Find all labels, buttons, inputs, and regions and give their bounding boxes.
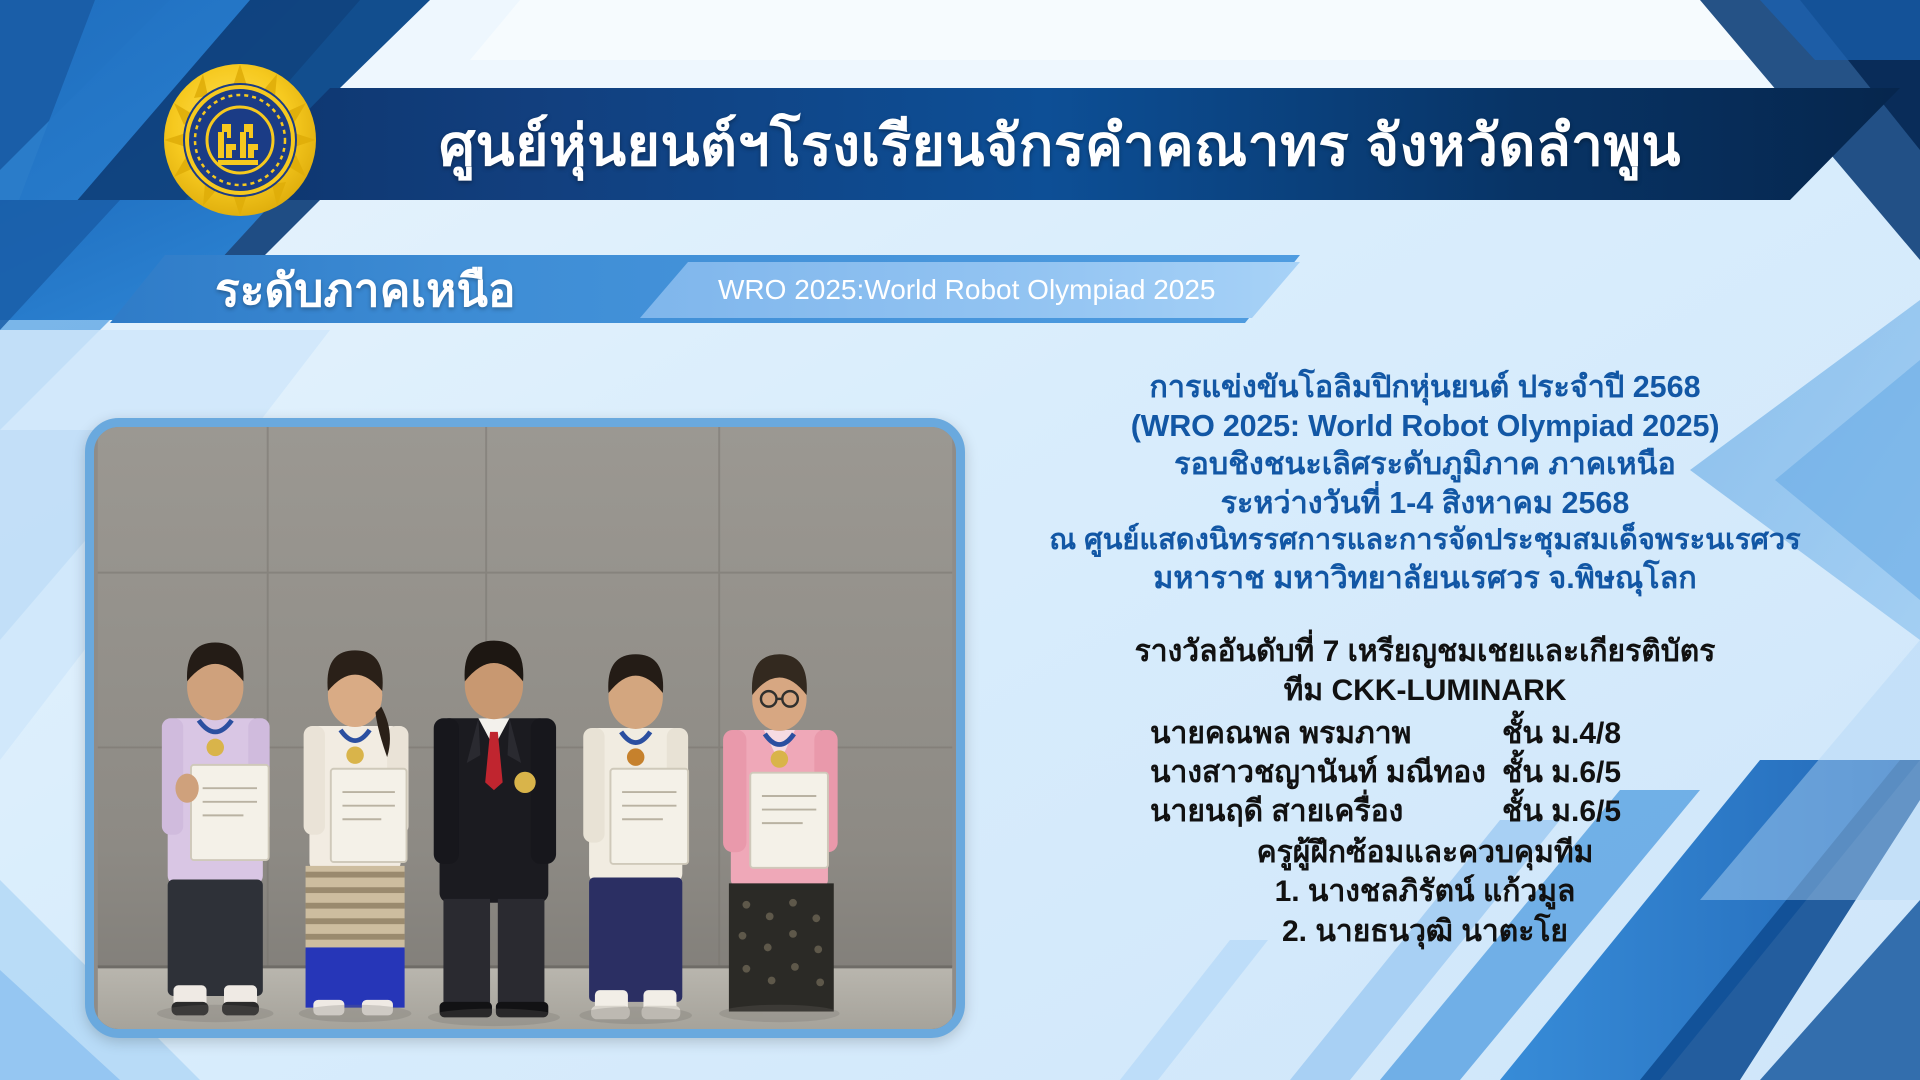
event-line-2: (WRO 2025: World Robot Olympiad 2025): [975, 407, 1875, 446]
event-line-6: มหาราช มหาวิทยาลัยนเรศวร จ.พิษณุโลก: [975, 559, 1875, 598]
award-block: รางวัลอันดับที่ 7 เหรียญชมเชยและเกียรติบ…: [975, 632, 1875, 952]
list-item: นายคณพล พรมภาพ ชั้น ม.4/8: [1142, 714, 1708, 753]
event-short-label: WRO 2025:World Robot Olympiad 2025: [718, 262, 1216, 318]
member-name: นางสาวชญานันท์ มณีทอง: [1142, 753, 1502, 792]
event-details-panel: การแข่งขันโอลิมปิกหุ่นยนต์ ประจำปี 2568 …: [975, 368, 1875, 952]
team-name: ทีม CKK-LUMINARK: [975, 671, 1875, 711]
member-name: นายนฤดี สายเครื่อง: [1142, 792, 1502, 831]
page-title: ศูนย์หุ่นยนต์ฯโรงเรียนจักรคำคณาทร จังหวั…: [330, 96, 1790, 196]
list-item: นางสาวชญานันท์ มณีทอง ชั้น ม.6/5: [1142, 753, 1708, 792]
member-class: ชั้น ม.6/5: [1502, 753, 1708, 792]
event-line-4: ระหว่างวันที่ 1-4 สิงหาคม 2568: [975, 484, 1875, 523]
list-item: นายนฤดี สายเครื่อง ชั้น ม.6/5: [1142, 792, 1708, 831]
school-crest-icon: [160, 60, 320, 220]
event-line-5: ณ ศูนย์แสดงนิทรรศการและการจัดประชุมสมเด็…: [975, 522, 1875, 559]
member-list: นายคณพล พรมภาพ ชั้น ม.4/8 นางสาวชญานันท์…: [975, 714, 1875, 831]
event-line-3: รอบชิงชนะเลิศระดับภูมิภาค ภาคเหนือ: [975, 445, 1875, 484]
member-class: ชั้น ม.4/8: [1502, 714, 1708, 753]
award-title: รางวัลอันดับที่ 7 เหรียญชมเชยและเกียรติบ…: [975, 632, 1875, 671]
award-ceremony-photo: [85, 418, 965, 1038]
coach-item: 1. นางชลภิรัตน์ แก้วมูล: [975, 872, 1875, 912]
coach-item: 2. นายธนวุฒิ นาตะโย: [975, 912, 1875, 952]
coach-heading: ครูผู้ฝึกซ้อมและควบคุมทีม: [975, 833, 1875, 873]
region-label: ระดับภาคเหนือ: [215, 258, 516, 322]
member-name: นายคณพล พรมภาพ: [1142, 714, 1502, 753]
event-line-1: การแข่งขันโอลิมปิกหุ่นยนต์ ประจำปี 2568: [975, 368, 1875, 407]
member-class: ชั้น ม.6/5: [1502, 792, 1708, 831]
